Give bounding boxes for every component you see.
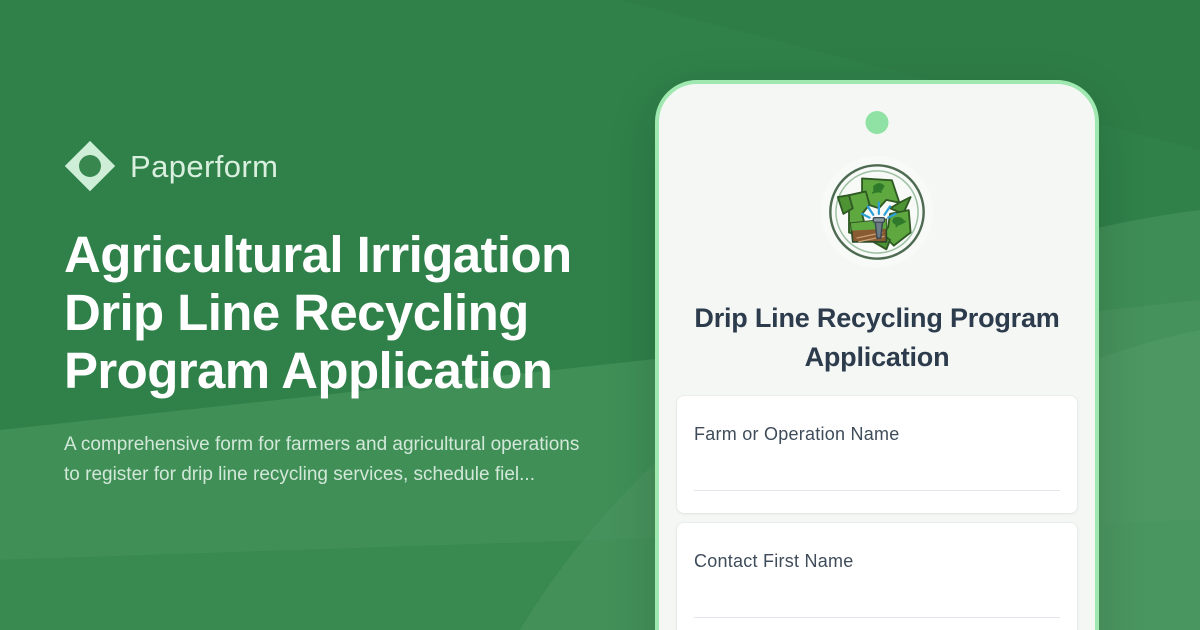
hero-content: Paperform Agricultural Irrigation Drip L…: [64, 0, 624, 630]
phone-mockup: Drip Line Recycling Program Application …: [655, 80, 1099, 630]
og-image-canvas: Paperform Agricultural Irrigation Drip L…: [0, 0, 1200, 630]
form-title: Drip Line Recycling Program Application: [677, 299, 1077, 377]
camera-dot-icon: [866, 111, 889, 134]
form-fields-list: Farm or Operation Name Contact First Nam…: [677, 396, 1077, 630]
contact-first-name-input[interactable]: [694, 617, 1060, 618]
form-field-contact-first-name[interactable]: Contact First Name: [677, 523, 1077, 630]
brand-lockup: Paperform: [64, 140, 624, 192]
brand-name: Paperform: [130, 151, 278, 182]
farm-name-input[interactable]: [694, 490, 1060, 491]
field-label: Farm or Operation Name: [694, 422, 1060, 446]
paperform-flower-logo-icon: [64, 140, 116, 192]
page-description: A comprehensive form for farmers and agr…: [64, 430, 584, 490]
page-title: Agricultural Irrigation Drip Line Recycl…: [64, 226, 594, 400]
recycling-irrigation-logo-icon: [821, 156, 933, 268]
field-label: Contact First Name: [694, 549, 1060, 573]
form-field-farm-name[interactable]: Farm or Operation Name: [677, 396, 1077, 513]
